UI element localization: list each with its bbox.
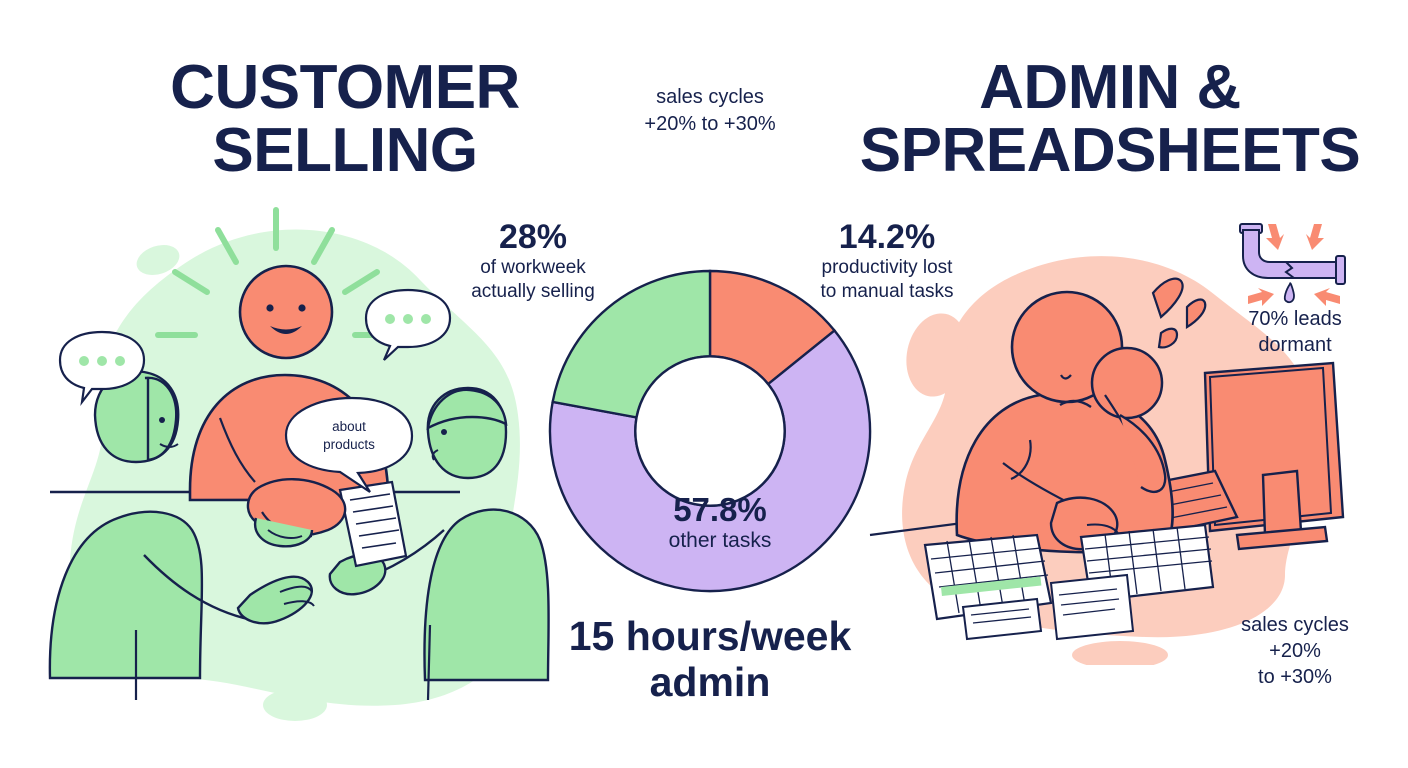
heading-customer-selling: CUSTOMER SELLING: [95, 56, 595, 182]
stat-left-line-1: of workweek: [443, 256, 623, 280]
donut-value: 57.8%: [620, 492, 820, 528]
note-pipe-line-2: dormant: [1200, 332, 1390, 358]
note-pipe-line-1: 70% leads: [1200, 306, 1390, 332]
note-cycles-line-2: +20%: [1200, 638, 1390, 664]
stat-hours-per-week-admin: 15 hours/week admin: [490, 614, 930, 706]
stat-left-value: 28%: [443, 218, 623, 256]
note-cycles-line-1: sales cycles: [1200, 612, 1390, 638]
monitor: [1205, 363, 1343, 549]
center-top-note: sales cycles +20% to +30%: [610, 84, 810, 138]
donut-caption: other tasks: [620, 528, 820, 553]
bubble-line-2: products: [323, 437, 375, 452]
note-cycles-line-3: to +30%: [1200, 664, 1390, 690]
stat-left-line-2: actually selling: [443, 280, 623, 304]
bottom-stat-line-1: 15 hours/week: [490, 614, 930, 660]
note-sales-cycles: sales cycles +20% to +30%: [1200, 612, 1390, 690]
bottom-stat-line-2: admin: [490, 660, 930, 706]
infographic-canvas: about products: [0, 0, 1408, 768]
donut-center-label: 57.8% other tasks: [620, 492, 820, 553]
heading-admin-spreadsheets: ADMIN & SPREADSHEETS: [830, 56, 1390, 182]
bubble-line-1: about: [332, 419, 366, 434]
spreadsheet-paper-left: [925, 535, 1051, 639]
stat-productivity-lost: 14.2% productivity lost to manual tasks: [792, 218, 982, 304]
stat-right-value: 14.2%: [792, 218, 982, 256]
workweek-donut-chart: [545, 253, 875, 608]
stat-right-line-2: to manual tasks: [792, 280, 982, 304]
leaking-pipe-icon: [1218, 222, 1363, 307]
center-top-line-2: +20% to +30%: [610, 111, 810, 138]
stat-workweek-selling: 28% of workweek actually selling: [443, 218, 623, 304]
note-leads-dormant: 70% leads dormant: [1200, 306, 1390, 358]
center-top-line-1: sales cycles: [610, 84, 810, 111]
stat-right-line-1: productivity lost: [792, 256, 982, 280]
